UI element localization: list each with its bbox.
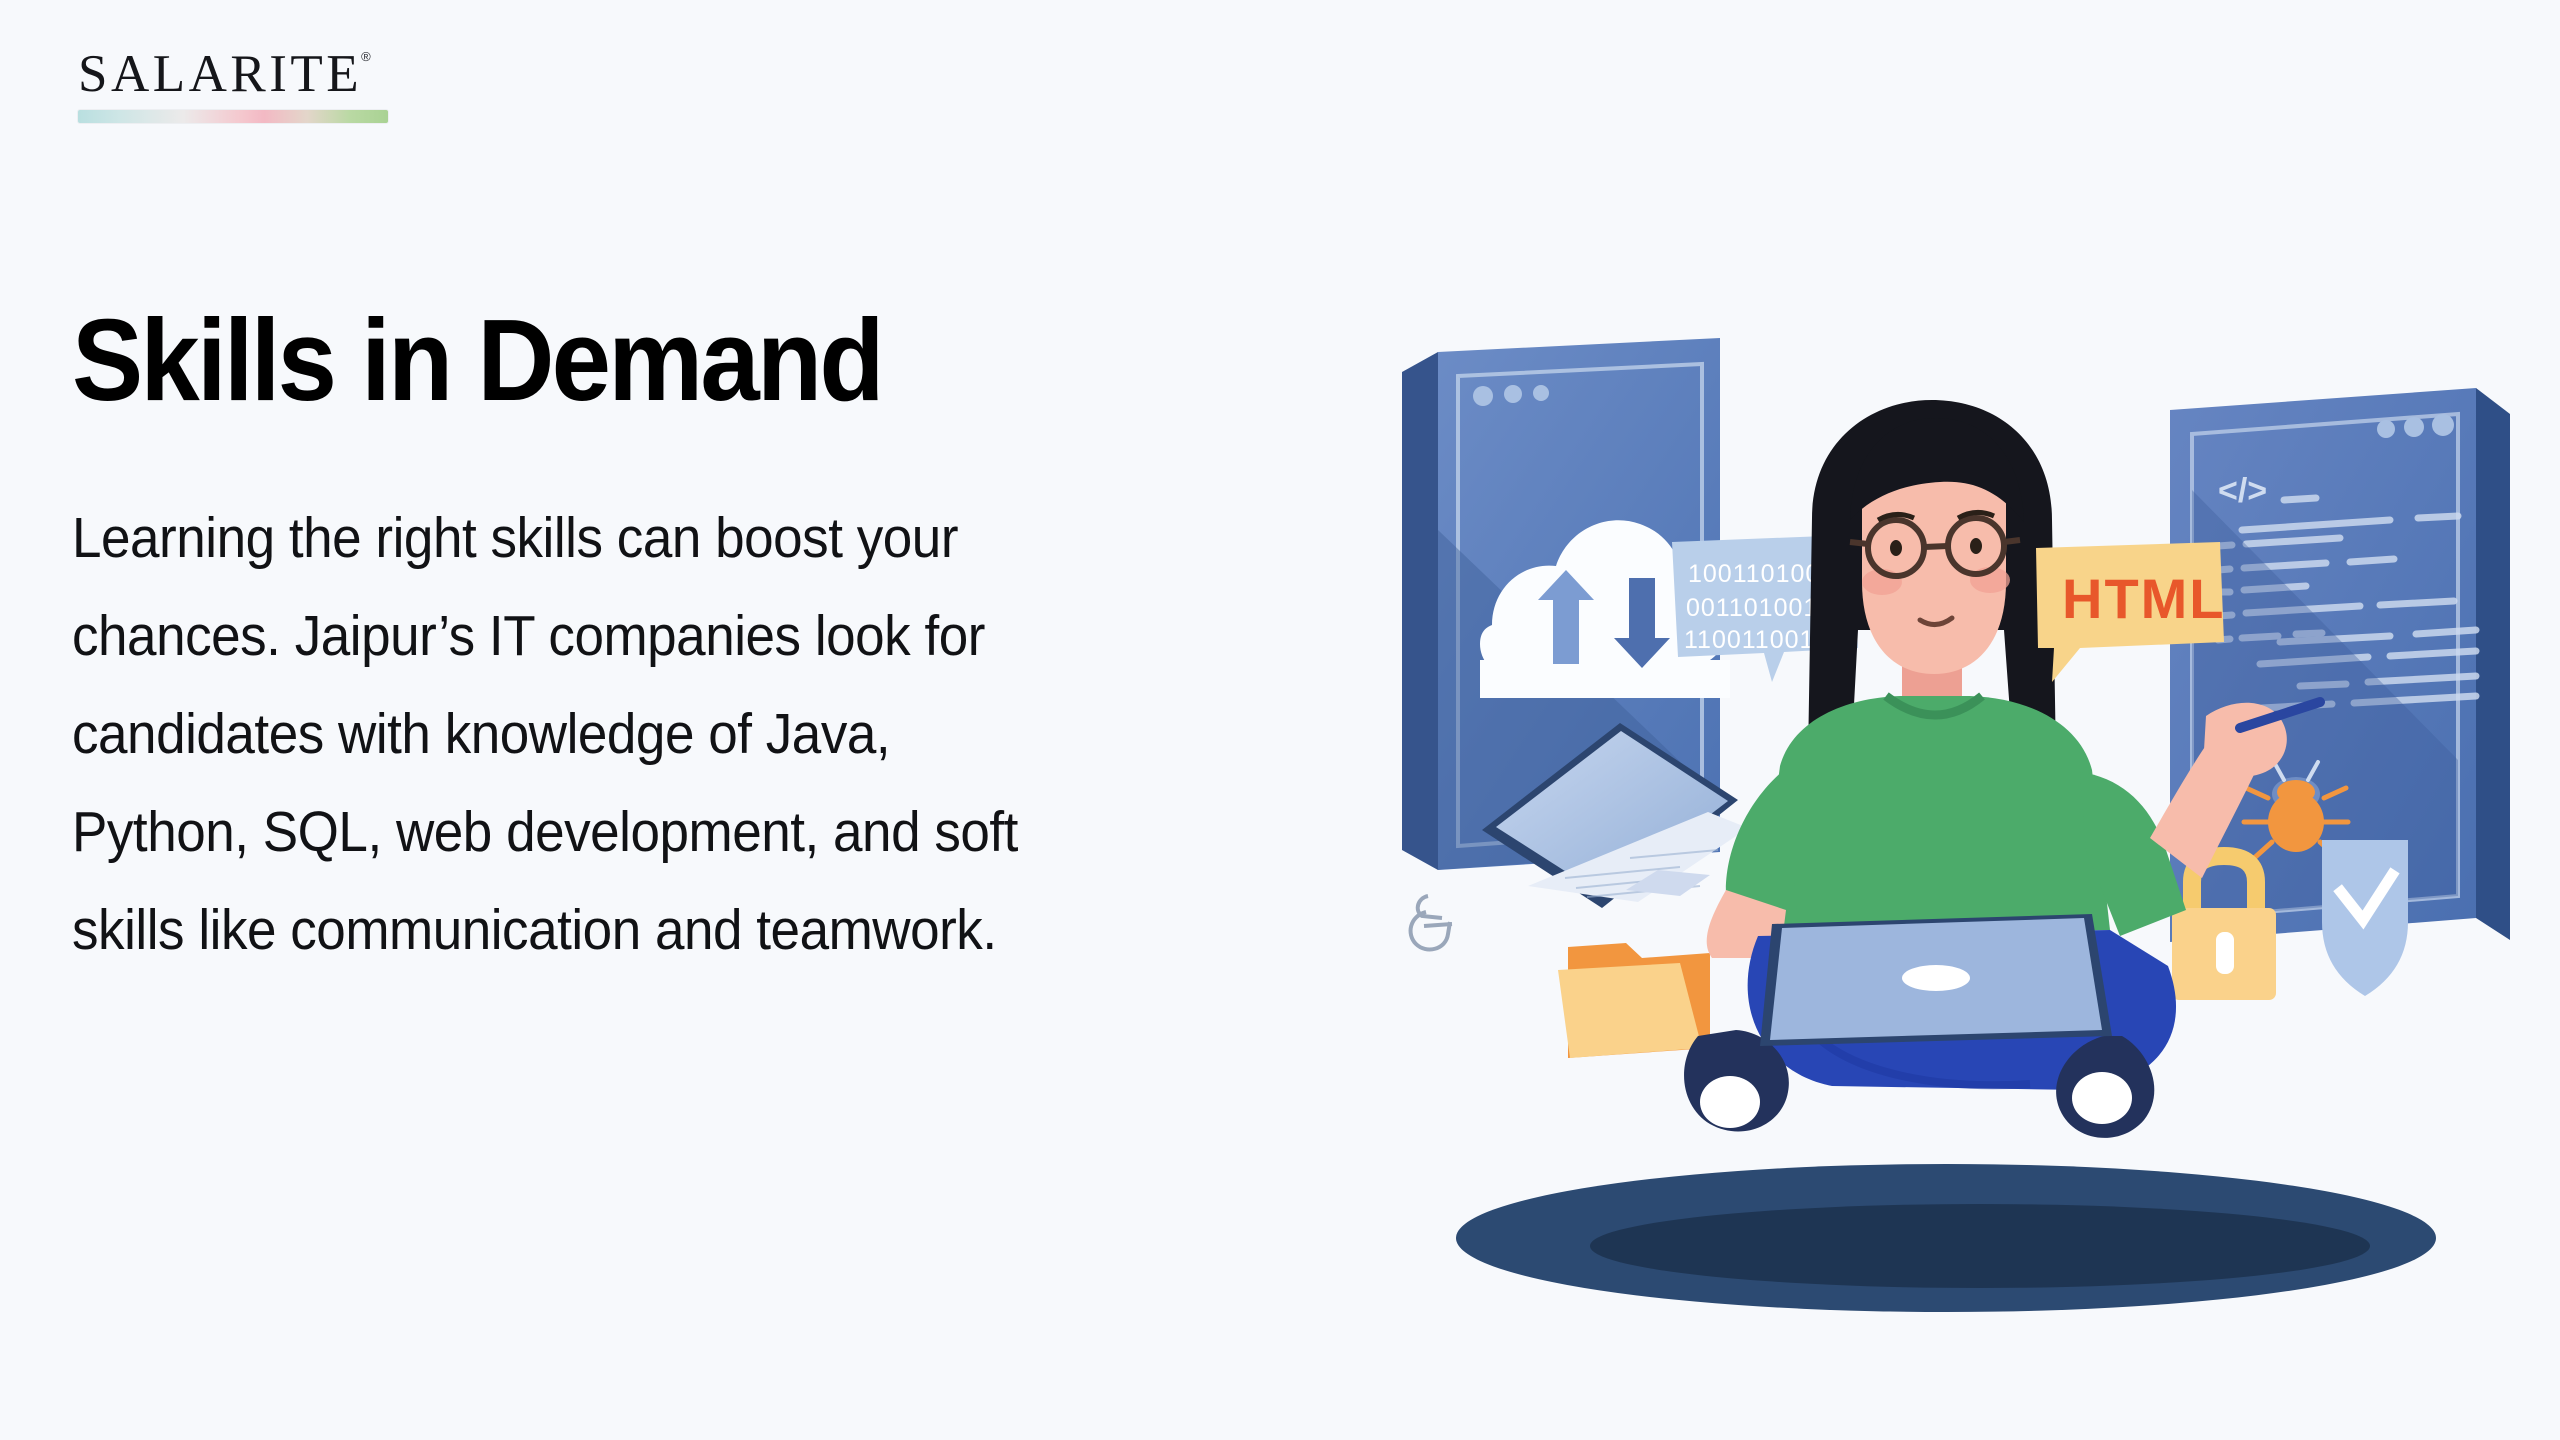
page-title: Skills in Demand xyxy=(72,300,1112,421)
hero-illustration: 100110100011 001101001111 110011001010 <… xyxy=(1380,330,2520,1340)
eye-left xyxy=(1890,540,1902,556)
lap-laptop-logo xyxy=(1902,965,1970,991)
cloud-base xyxy=(1480,660,1730,698)
folder-front xyxy=(1558,963,1702,1058)
text-column: Skills in Demand Learning the right skil… xyxy=(72,300,1202,979)
illustration-canvas: 100110100011 001101001111 110011001010 <… xyxy=(1380,330,2520,1340)
padlock-keyhole xyxy=(2216,932,2234,974)
paperclip-icon xyxy=(1411,896,1452,949)
code-editor-panel: </> xyxy=(2170,388,2510,1000)
shadow-inner xyxy=(1590,1204,2370,1288)
eye-right xyxy=(1970,538,1982,554)
panel-left-side-face xyxy=(1402,352,1438,870)
panel-right-side-face xyxy=(2476,388,2510,940)
logo-wordmark-wrap: SALARITE ® xyxy=(78,48,372,101)
floor-shadow-ellipse xyxy=(1456,1164,2436,1312)
laptop-on-lap xyxy=(1760,914,2112,1046)
logo-gradient-underline xyxy=(78,110,388,123)
code-tag-icon: </> xyxy=(2218,472,2267,510)
folder-icon xyxy=(1558,943,1710,1058)
html-bubble-label: HTML xyxy=(2062,567,2226,630)
body-paragraph: Learning the right skills can boost your… xyxy=(72,489,1058,979)
browser-window-left xyxy=(1402,338,1748,1058)
brand-logo[interactable]: SALARITE ® xyxy=(78,48,398,123)
shirt-torso xyxy=(1758,696,2110,936)
registered-trademark-icon: ® xyxy=(361,50,374,63)
shield-check-icon xyxy=(2322,840,2408,996)
logo-wordmark-text: SALARITE xyxy=(78,45,362,103)
